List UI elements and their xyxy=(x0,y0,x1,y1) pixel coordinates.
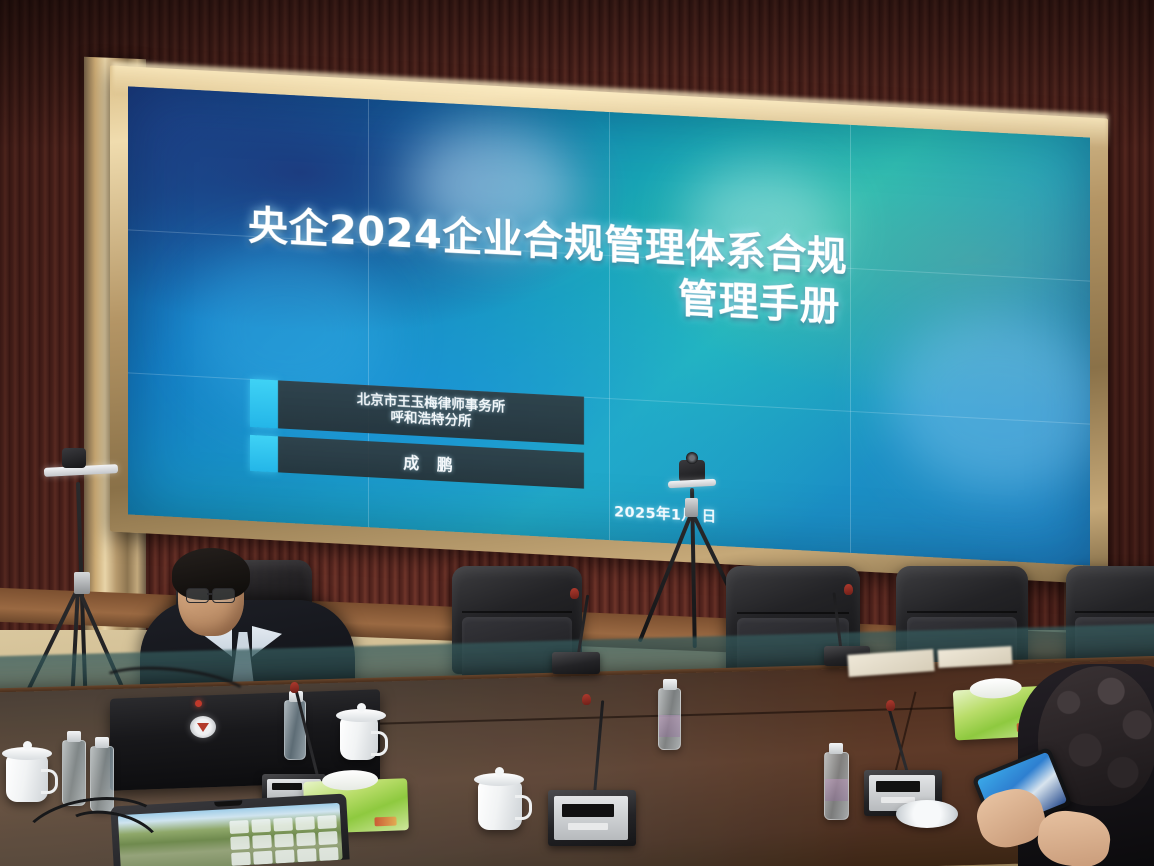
light-head xyxy=(62,448,86,468)
desktop-icon[interactable] xyxy=(253,851,273,865)
desktop-icon[interactable] xyxy=(230,836,250,850)
tissue-puff xyxy=(321,769,378,791)
desktop-icon[interactable] xyxy=(318,831,338,845)
desktop-icon[interactable] xyxy=(231,852,251,866)
tea-cup[interactable] xyxy=(6,756,48,802)
bottle-cap xyxy=(67,731,81,742)
desktop-icon[interactable] xyxy=(274,833,294,847)
slide-presenter-box: 成 鹏 xyxy=(278,436,584,488)
mic-head xyxy=(886,700,895,711)
lens-right xyxy=(212,588,235,603)
lens-left xyxy=(186,588,209,603)
desktop-icon[interactable] xyxy=(252,835,272,849)
glasses-bridge xyxy=(207,593,212,595)
slide-accent-bar-org xyxy=(250,379,278,428)
bottle-cap xyxy=(95,737,109,748)
desktop-icon[interactable] xyxy=(275,849,295,863)
water-bottle[interactable] xyxy=(62,740,86,806)
mic-base-unit[interactable] xyxy=(552,652,600,674)
cup-lid-knob xyxy=(495,767,504,776)
bottle-cap xyxy=(663,679,677,690)
water-bottle[interactable] xyxy=(824,752,849,820)
cup-handle xyxy=(371,731,388,756)
desktop-icon[interactable] xyxy=(229,820,249,834)
presenter-name: 成 鹏 xyxy=(403,449,459,476)
camera-battery xyxy=(685,498,698,517)
mic-display xyxy=(562,804,614,817)
eyeglasses xyxy=(186,588,240,601)
bottle-cap xyxy=(829,743,843,754)
chair-seam xyxy=(1075,611,1154,613)
chair-seam xyxy=(737,612,850,614)
slide-organization-box: 北京市王玉梅律师事务所 呼和浩特分所 xyxy=(278,380,584,444)
tripod-battery-pack xyxy=(74,572,90,594)
chair-seam xyxy=(462,611,571,613)
desktop-icon[interactable] xyxy=(251,819,271,833)
cup-handle xyxy=(515,795,532,820)
desktop-icon[interactable] xyxy=(273,818,293,832)
tea-cup[interactable] xyxy=(478,782,522,830)
mic-head xyxy=(290,682,299,693)
desktop-icon[interactable] xyxy=(297,848,317,862)
water-bottle[interactable] xyxy=(284,700,306,760)
laptop-webcam-icon xyxy=(214,800,242,807)
water-bottle[interactable] xyxy=(658,688,681,750)
desktop-icon-grid xyxy=(229,815,338,864)
cup-lid-knob xyxy=(357,703,366,712)
slide-title: 央企2024企业合规管理体系合规 管理手册 xyxy=(248,201,1028,343)
laptop-brand-logo xyxy=(190,716,216,738)
mic-faceplate xyxy=(554,796,628,840)
slide-date: 2025年1月 日 xyxy=(614,500,717,526)
tea-cup[interactable] xyxy=(340,718,378,760)
organization-line2: 呼和浩特分所 xyxy=(391,410,472,430)
mic-display xyxy=(876,781,920,792)
slide-accent-bar-name xyxy=(250,435,278,472)
chair-seam xyxy=(907,611,1018,613)
desktop-icon[interactable] xyxy=(317,815,337,829)
mic-base-unit[interactable] xyxy=(548,790,636,846)
mic-head xyxy=(582,694,591,705)
mic-display xyxy=(272,783,302,790)
camera-lens-icon xyxy=(686,452,698,464)
saucer-plate[interactable] xyxy=(896,800,958,828)
mic-head xyxy=(844,584,853,595)
conference-room-photo: 央企2024企业合规管理体系合规 管理手册 北京市王玉梅律师事务所 呼和浩特分所… xyxy=(0,0,1154,866)
bottle-label xyxy=(659,715,680,737)
bottle-label xyxy=(825,779,848,801)
tissue-brand-logo xyxy=(374,816,396,826)
led-video-wall[interactable]: 央企2024企业合规管理体系合规 管理手册 北京市王玉梅律师事务所 呼和浩特分所… xyxy=(128,86,1090,565)
mic-talk-button[interactable] xyxy=(568,823,608,830)
mic-head xyxy=(570,588,579,599)
desktop-icon[interactable] xyxy=(295,816,315,830)
slide-content: 央企2024企业合规管理体系合规 管理手册 北京市王玉梅律师事务所 呼和浩特分所… xyxy=(128,86,1090,565)
cup-lid-knob xyxy=(23,741,32,750)
desktop-icon[interactable] xyxy=(319,847,339,861)
cup-handle xyxy=(41,769,58,794)
desktop-icon[interactable] xyxy=(296,832,316,846)
